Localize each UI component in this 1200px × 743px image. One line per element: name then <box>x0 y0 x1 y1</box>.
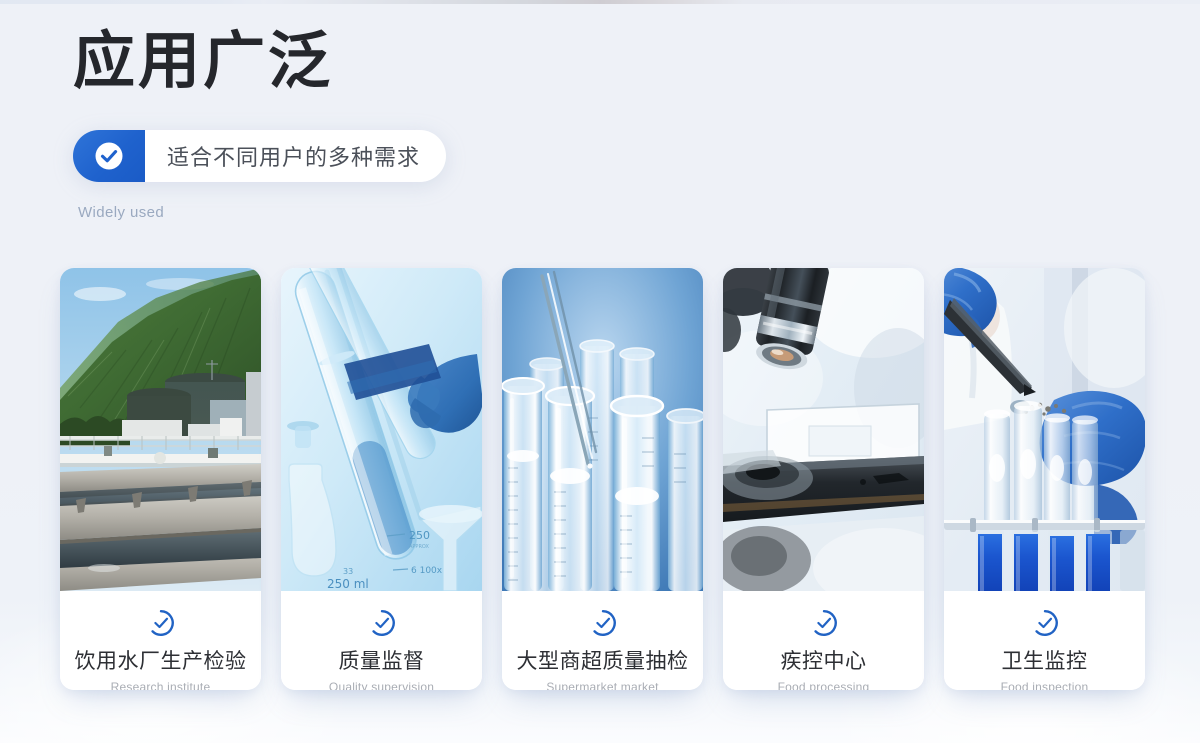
card-title: 质量监督 <box>339 645 425 675</box>
card-caption: 疾控中心 Food processing <box>723 591 924 690</box>
microscope-slide-photo <box>723 268 924 591</box>
application-card-list: 饮用水厂生产检验 Research institute <box>60 268 1145 690</box>
card-caption: 大型商超质量抽检 Supermarket market <box>502 591 703 690</box>
svg-text:6 100x: 6 100x <box>411 566 443 576</box>
svg-text:250 ml: 250 ml <box>327 577 369 591</box>
card-title: 卫生监控 <box>1002 645 1088 675</box>
card-caption: 卫生监控 Food inspection <box>944 591 1145 690</box>
application-card[interactable]: 卫生监控 Food inspection <box>944 268 1145 690</box>
check-circle-icon <box>588 608 618 638</box>
check-circle-icon <box>146 608 176 638</box>
application-card[interactable]: 疾控中心 Food processing <box>723 268 924 690</box>
page-title: 应用广泛 <box>73 28 333 95</box>
tweezers-blue-test-tubes-photo <box>944 268 1145 591</box>
card-caption: 质量监督 Quality supervision <box>281 591 482 690</box>
application-card[interactable]: 250 APPROX 6 100x 33 250 ml 质量监督 Quality… <box>281 268 482 690</box>
test-tube-gloved-hand-photo: 250 APPROX 6 100x 33 250 ml <box>281 268 482 591</box>
card-subtitle-en: Supermarket market <box>546 680 658 690</box>
section-header: 应用广泛 <box>73 28 333 95</box>
previous-section-sliver <box>0 0 1200 4</box>
card-subtitle-en: Food inspection <box>1001 680 1089 690</box>
application-card[interactable]: 饮用水厂生产检验 Research institute <box>60 268 261 690</box>
card-subtitle-en: Quality supervision <box>329 680 434 690</box>
card-title: 饮用水厂生产检验 <box>75 645 247 675</box>
svg-text:APPROX: APPROX <box>409 544 430 550</box>
tagline-pill: 适合不同用户的多种需求 <box>73 130 446 182</box>
application-card[interactable]: 大型商超质量抽检 Supermarket market <box>502 268 703 690</box>
tagline-text: 适合不同用户的多种需求 <box>145 130 446 182</box>
card-subtitle-en: Research institute <box>111 680 211 690</box>
card-title: 大型商超质量抽检 <box>517 645 689 675</box>
section-subtitle-en: Widely used <box>78 204 164 221</box>
svg-text:33: 33 <box>343 567 353 576</box>
check-circle-icon <box>1030 608 1060 638</box>
check-circle-icon <box>367 608 397 638</box>
card-title: 疾控中心 <box>781 645 867 675</box>
check-circle-icon <box>809 608 839 638</box>
check-circle-icon <box>73 130 145 182</box>
svg-text:250: 250 <box>409 529 430 542</box>
graduated-cylinders-pipette-photo <box>502 268 703 591</box>
water-treatment-plant-photo <box>60 268 261 591</box>
card-caption: 饮用水厂生产检验 Research institute <box>60 591 261 690</box>
card-subtitle-en: Food processing <box>778 680 870 690</box>
application-section: 应用广泛 适合不同用户的多种需求 Widely used <box>0 0 1200 743</box>
